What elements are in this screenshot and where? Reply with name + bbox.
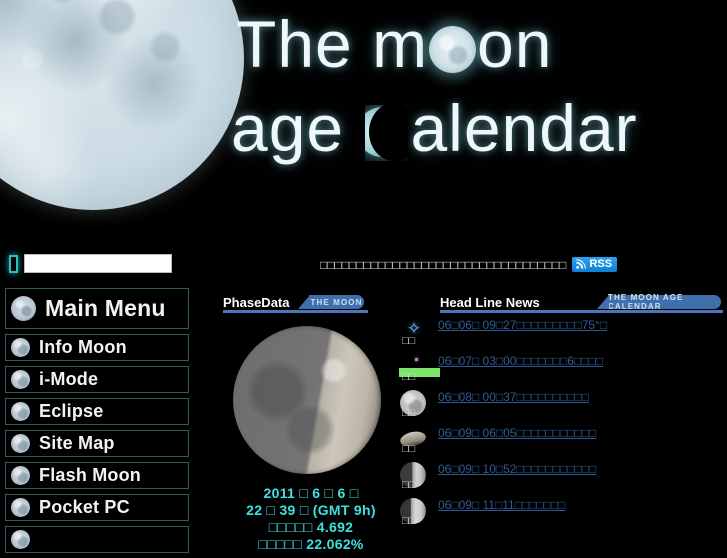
phase-panel-rule — [223, 310, 368, 313]
news-link[interactable]: 06□09□ 11□11□□□□□□□ — [438, 498, 565, 513]
ticker-row: □□□□□□□□□□□□□□□□□□□□□□□□□□□□□□□□□□ RSS — [320, 257, 617, 272]
news-subtext: □□ — [402, 479, 415, 492]
sparkle-dot-icon — [415, 358, 418, 361]
news-link[interactable]: 06□09□ 06□05□□□□□□□□□□□ — [438, 426, 596, 441]
phase-panel-tag: THE MOON — [309, 295, 364, 309]
news-subtext: □□ — [402, 515, 415, 528]
news-link[interactable]: 06□06□ 09□27□□□□□□□□□75°□ — [438, 318, 607, 333]
search-row — [9, 254, 172, 273]
moon-icon — [11, 338, 30, 357]
phase-date: 2011 □ 6 □ 6 □ — [221, 485, 401, 502]
news-subtext: □□ — [402, 407, 415, 420]
site-title-text-3: age — [231, 91, 363, 165]
phase-time: 22 □ 39 □ (GMT 9h) — [221, 502, 401, 519]
news-subtext: □□ — [402, 335, 415, 348]
site-title-text-1: The m — [236, 7, 428, 81]
phase-data-panel: PhaseData THE MOON 2011 □ 6 □ 6 □ 22 □ 3… — [221, 295, 401, 312]
sidebar-item-info-moon[interactable]: Info Moon — [5, 334, 189, 361]
crescent-moon-icon — [365, 105, 408, 161]
moon-icon — [11, 434, 30, 453]
news-item: 06□07□ 03□00□□□□□□□6□□□□ □□ — [392, 353, 723, 387]
moon-icon — [11, 530, 30, 549]
phase-moon-image — [233, 326, 381, 474]
sidebar-item-label: Info Moon — [39, 337, 127, 358]
moon-icon — [11, 466, 30, 485]
news-item: 06□09□ 10□52□□□□□□□□□□□ □□ — [392, 461, 723, 495]
sidebar-item-eclipse[interactable]: Eclipse — [5, 398, 189, 425]
moon-icon — [11, 498, 30, 517]
rss-icon — [576, 259, 586, 269]
search-input[interactable] — [24, 254, 172, 273]
news-panel-header: Head Line News THE MOON AGE CALENDAR — [438, 295, 723, 312]
site-title-line-1: The mon — [236, 6, 552, 82]
sidebar-item-pocket-pc[interactable]: Pocket PC — [5, 494, 189, 521]
sidebar-item-label: Pocket PC — [39, 497, 130, 518]
news-panel-tag: THE MOON AGE CALENDAR — [608, 295, 721, 309]
news-link[interactable]: 06□07□ 03□00□□□□□□□6□□□□ — [438, 354, 603, 369]
sidebar-item-label: Flash Moon — [39, 465, 141, 486]
news-subtext: □□ — [402, 371, 415, 384]
sidebar-item-i-mode[interactable]: i-Mode — [5, 366, 189, 393]
phase-panel-title: PhaseData — [223, 295, 289, 310]
news-link[interactable]: 06□09□ 10□52□□□□□□□□□□□ — [438, 462, 596, 477]
search-glyph-icon — [9, 255, 18, 273]
sidebar-item-site-map[interactable]: Site Map — [5, 430, 189, 457]
phase-age: □□□□□ 4.692 — [221, 519, 401, 536]
sidebar-item-label: i-Mode — [39, 369, 98, 390]
news-item: ✧ 06□06□ 09□27□□□□□□□□□75°□ □□ — [392, 317, 723, 351]
phase-panel-header: PhaseData THE MOON — [221, 295, 401, 312]
full-moon-icon — [429, 26, 476, 73]
site-title-text-2: on — [477, 7, 552, 81]
moon-icon — [11, 402, 30, 421]
sidebar-item-partial[interactable] — [5, 526, 189, 553]
site-title-line-2: age alendar — [231, 90, 638, 166]
phase-data-text: 2011 □ 6 □ 6 □ 22 □ 39 □ (GMT 9h) □□□□□ … — [221, 485, 401, 553]
news-panel-title: Head Line News — [440, 295, 540, 310]
sidebar-item-label: Eclipse — [39, 401, 103, 422]
sidebar-item-label: Site Map — [39, 433, 115, 454]
site-banner: The mon age alendar — [0, 0, 727, 240]
sidebar-menu: Main Menu Info Moon i-Mode Eclipse Site … — [5, 288, 189, 558]
sidebar-item-flash-moon[interactable]: Flash Moon — [5, 462, 189, 489]
rss-badge[interactable]: RSS — [572, 257, 617, 272]
sidebar-item-main-menu[interactable]: Main Menu — [5, 288, 189, 329]
moon-icon — [11, 296, 36, 321]
news-list: ✧ 06□06□ 09□27□□□□□□□□□75°□ □□ 06□07□ 03… — [392, 317, 723, 533]
news-subtext: □□ — [402, 443, 415, 456]
sidebar: Main Menu Info Moon i-Mode Eclipse Site … — [0, 240, 210, 545]
rss-label: RSS — [589, 258, 612, 270]
sidebar-item-label: Main Menu — [45, 295, 166, 322]
news-item: 06□09□ 11□11□□□□□□□ □□ — [392, 497, 723, 531]
news-link[interactable]: 06□08□ 00□37□□□□□□□□□□ — [438, 390, 589, 405]
news-item: 06□09□ 06□05□□□□□□□□□□□ □□ — [392, 425, 723, 459]
moon-icon — [11, 370, 30, 389]
site-title-text-4: alendar — [410, 91, 637, 165]
head-line-news-panel: Head Line News THE MOON AGE CALENDAR ✧ 0… — [438, 295, 723, 312]
news-item: 06□08□ 00□37□□□□□□□□□□ □□ — [392, 389, 723, 423]
ticker-text: □□□□□□□□□□□□□□□□□□□□□□□□□□□□□□□□□□ — [320, 259, 566, 271]
banner-moon-photo — [0, 0, 244, 210]
